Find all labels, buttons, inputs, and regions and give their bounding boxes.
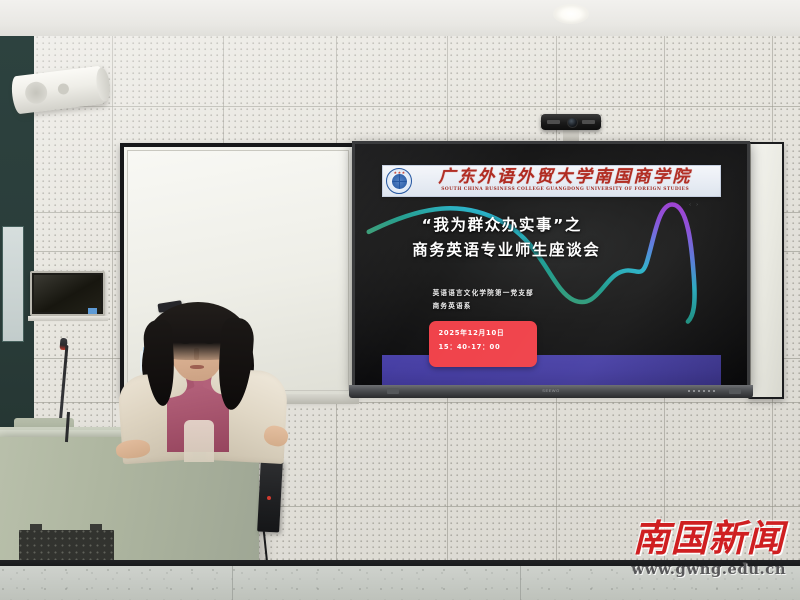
display-button-row[interactable]	[688, 390, 715, 392]
slide-nav-arrows-icon[interactable]: ‹ ›	[689, 202, 700, 208]
left-wall-light-panel	[2, 226, 24, 342]
watermark-title: 南国新闻	[631, 520, 786, 557]
slide-title-line2: 商务英语专业师生座谈会	[412, 238, 610, 263]
shelf-sticker	[88, 308, 97, 314]
mouth	[190, 365, 204, 369]
camera-mic-left	[547, 120, 560, 124]
interactive-display[interactable]: ★★★ 广东外语外贸大学南国商学院 SOUTH CHINA BUSINESS C…	[352, 141, 750, 388]
decorative-gradient-curve	[355, 144, 747, 385]
whiteboard-right-panel[interactable]	[748, 142, 784, 399]
display-bezel-chin: SEEWO	[349, 385, 753, 398]
display-screen[interactable]: ★★★ 广东外语外贸大学南国商学院 SOUTH CHINA BUSINESS C…	[355, 144, 747, 385]
display-indicator-right	[729, 388, 741, 394]
display-indicator-left	[387, 388, 399, 394]
slide-title: “我为群众办实事”之 商务英语专业师生座谈会	[422, 213, 610, 263]
lecture-hall-photo: ★★★ 广东外语外贸大学南国商学院 SOUTH CHINA BUSINESS C…	[0, 0, 800, 600]
watermark-url: www.gwng.edu.cn	[631, 560, 786, 578]
slide-subtitle: 英语语言文化学院第一党支部 商务英语系	[433, 287, 534, 314]
equipment-led-icon	[267, 496, 271, 500]
jacket-front	[184, 420, 214, 462]
news-watermark: 南国新闻 www.gwng.edu.cn	[631, 520, 786, 578]
camera-lens-icon	[567, 117, 578, 128]
camera-mic-right	[582, 120, 595, 124]
wall-monitor-shelf	[28, 316, 108, 321]
video-camera-icon	[541, 114, 601, 130]
slide-title-line1: “我为群众办实事”之	[422, 216, 582, 234]
slide-subtitle-line1: 英语语言文化学院第一党支部	[433, 287, 534, 301]
slide-subtitle-line2: 商务英语系	[433, 300, 534, 314]
ceiling	[0, 0, 800, 40]
camera-mount	[563, 128, 579, 142]
slide-time: 15：40-17：00	[438, 341, 537, 355]
wall-monitor-screen	[34, 275, 101, 312]
ceiling-downlight-icon	[553, 4, 589, 24]
slide-date-box: 2025年12月10日 15：40-17：00	[429, 321, 537, 367]
slide-date: 2025年12月10日	[438, 327, 537, 341]
display-brand-label: SEEWO	[542, 388, 559, 393]
presenter	[112, 300, 287, 460]
